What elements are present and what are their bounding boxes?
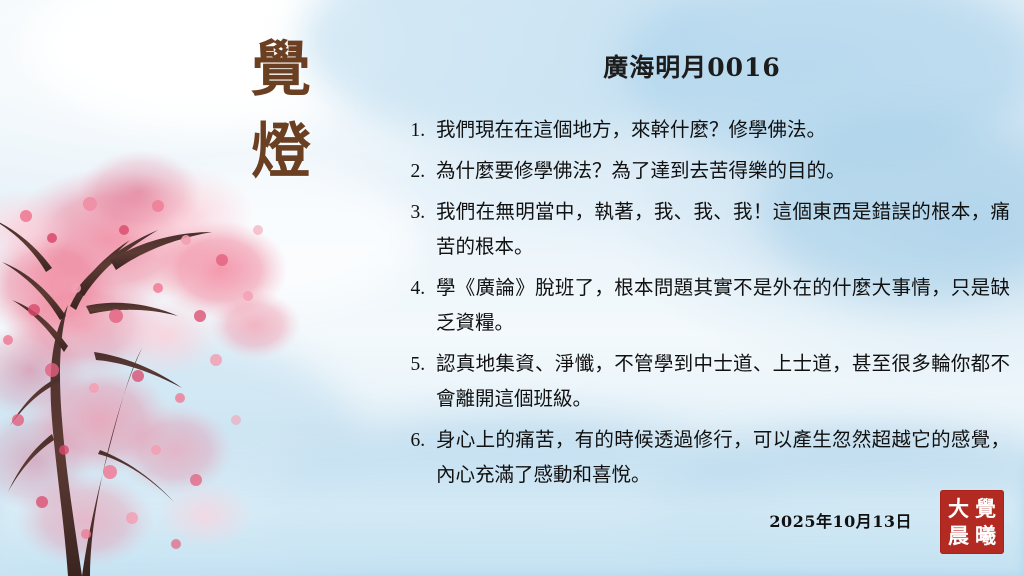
seal-stamp: 大 覺 晨 曦	[940, 490, 1004, 554]
list-item: 我們在無明當中，執著，我、我、我！這個東西是錯誤的根本，痛苦的根本。	[430, 194, 1010, 264]
list-item: 學《廣論》脫班了，根本問題其實不是外在的什麼大事情，只是缺乏資糧。	[430, 270, 1010, 340]
seal-char-1: 大	[945, 495, 972, 522]
list-item: 認真地集資、淨懺，不管學到中士道、上士道，甚至很多輪你都不會離開這個班級。	[430, 346, 1010, 416]
content-list: 我們現在在這個地方，來幹什麼？修學佛法。 為什麼要修學佛法？為了達到去苦得樂的目…	[398, 112, 1010, 498]
date-label: 2025年10月13日	[769, 508, 912, 532]
seal-char-3: 晨	[945, 522, 972, 549]
list-item: 身心上的痛苦，有的時候透過修行，可以產生忽然超越它的感覺，內心充滿了感動和喜悅。	[430, 422, 1010, 492]
seal-char-2: 覺	[972, 495, 999, 522]
seal-grid: 大 覺 晨 曦	[945, 495, 999, 549]
page-title: 廣海明月0016	[400, 48, 984, 84]
vertical-title: 覺 燈	[226, 34, 336, 188]
seal-char-4: 曦	[972, 522, 999, 549]
vertical-title-char-2: 燈	[226, 116, 336, 188]
list-item: 我們現在在這個地方，來幹什麼？修學佛法。	[430, 112, 1010, 147]
slide: 覺 燈 廣海明月0016 我們現在在這個地方，來幹什麼？修學佛法。 為什麼要修學…	[0, 0, 1024, 576]
list-item: 為什麼要修學佛法？為了達到去苦得樂的目的。	[430, 153, 1010, 188]
vertical-title-char-1: 覺	[226, 34, 336, 106]
